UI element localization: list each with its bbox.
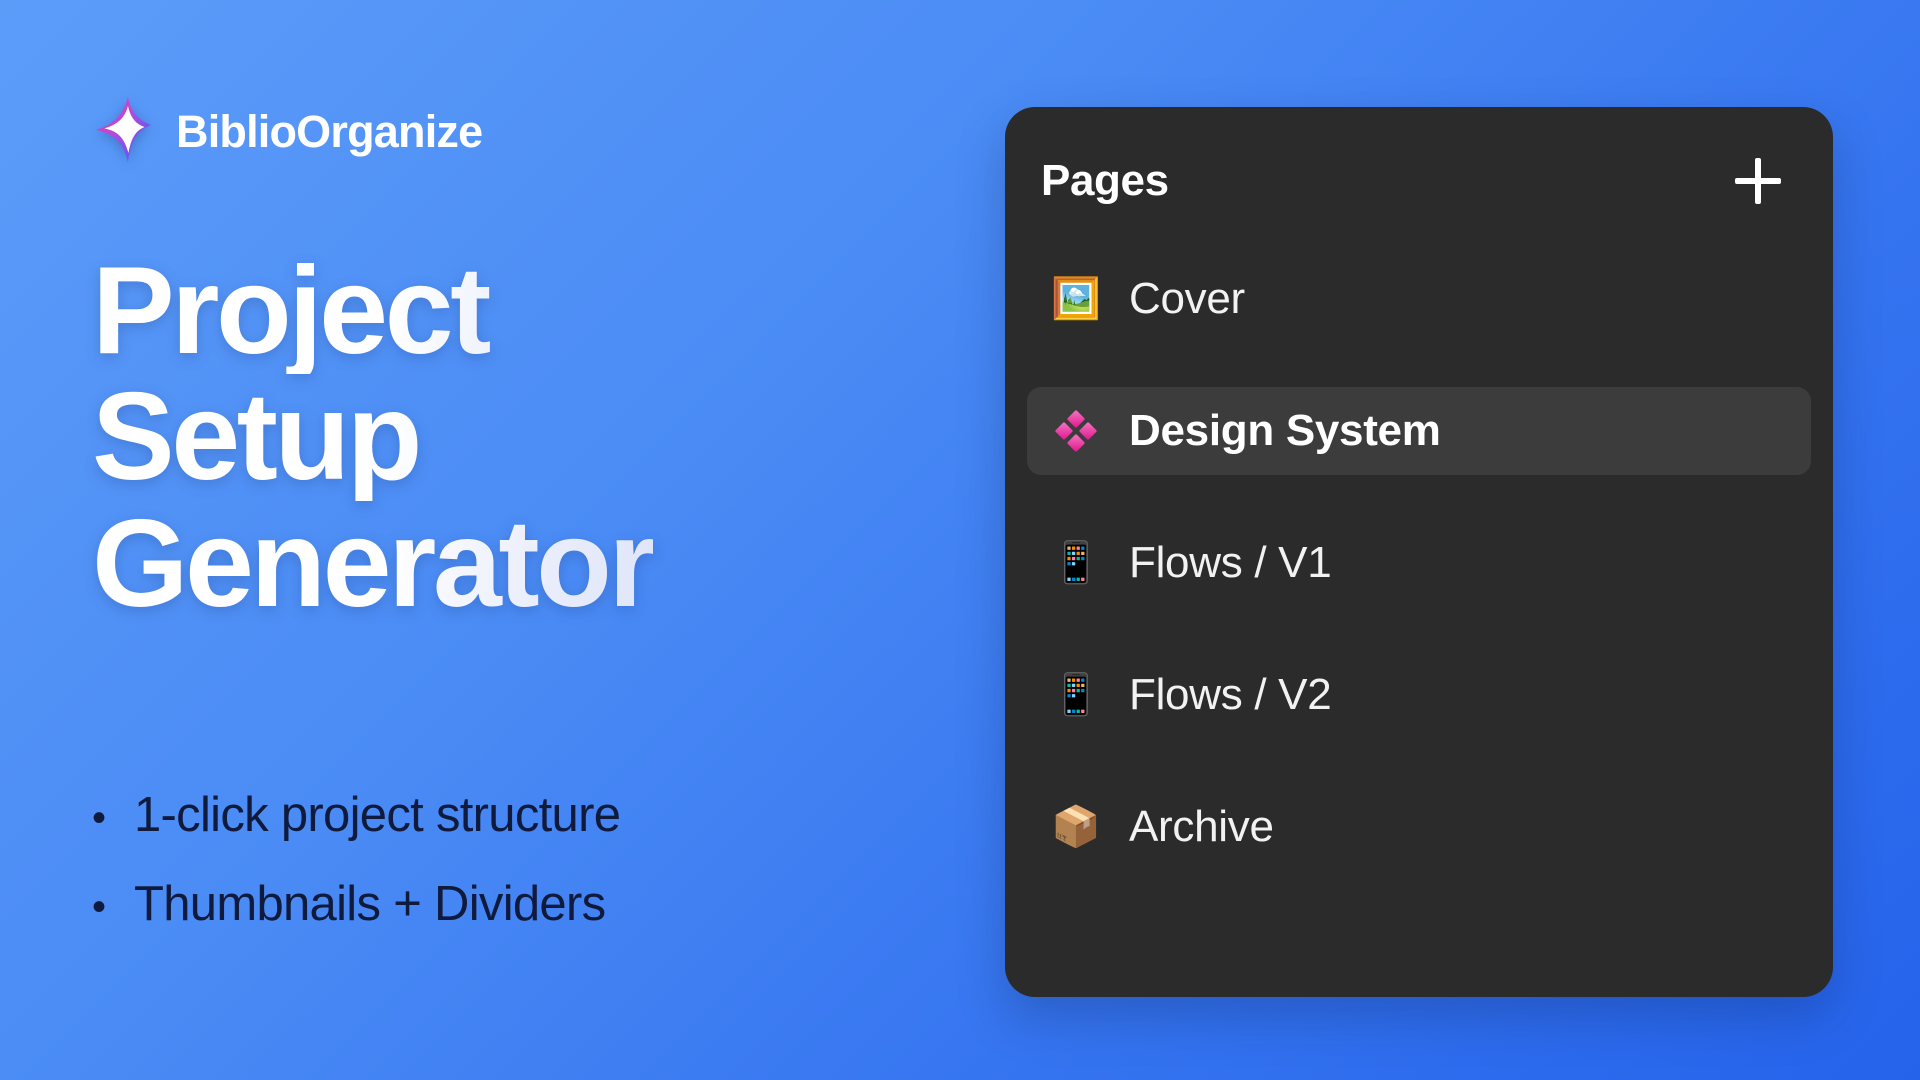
pages-panel: Pages 🖼️ Cover [1005, 107, 1833, 997]
mobile-phone-icon: 📱 [1053, 675, 1099, 715]
page-list-item-cover[interactable]: 🖼️ Cover [1027, 255, 1811, 343]
page-item-label: Cover [1129, 277, 1245, 321]
headline-line-3: Generator [92, 501, 653, 627]
page-list-item-flows-v1[interactable]: 📱 Flows / V1 [1027, 519, 1811, 607]
page-item-label: Flows / V1 [1129, 541, 1331, 585]
pages-panel-header: Pages [1005, 107, 1833, 255]
feature-bullet-list: • 1-click project structure • Thumbnails… [92, 790, 620, 969]
plus-icon[interactable] [1729, 152, 1787, 210]
pages-list: 🖼️ Cover Design System [1005, 255, 1833, 915]
framed-picture-icon: 🖼️ [1053, 279, 1099, 319]
bullet-label: 1-click project structure [134, 790, 620, 841]
page-list-item-archive[interactable]: 📦 Archive [1027, 783, 1811, 871]
hero-left-column: BiblioOrganize Project Setup Generator •… [92, 0, 972, 1080]
page-item-label: Design System [1129, 409, 1441, 453]
page-item-label: Archive [1129, 805, 1274, 849]
headline-line-1: Project [92, 248, 653, 374]
sparkle-star-icon [92, 96, 154, 166]
panel-title: Pages [1041, 159, 1169, 203]
page-list-item-design-system[interactable]: Design System [1027, 387, 1811, 475]
bullet-marker-icon: • [92, 887, 112, 927]
brand-name: BiblioOrganize [176, 109, 482, 154]
list-item: • 1-click project structure [92, 790, 620, 841]
brand-lockup: BiblioOrganize [92, 96, 482, 166]
mobile-phone-icon: 📱 [1053, 543, 1099, 583]
page-title: Project Setup Generator [92, 248, 653, 627]
bullet-label: Thumbnails + Dividers [134, 879, 605, 930]
list-item: • Thumbnails + Dividers [92, 879, 620, 930]
page-item-label: Flows / V2 [1129, 673, 1331, 717]
pink-diamonds-icon [1053, 410, 1099, 452]
page-list-item-flows-v2[interactable]: 📱 Flows / V2 [1027, 651, 1811, 739]
headline-line-2: Setup [92, 374, 653, 500]
bullet-marker-icon: • [92, 798, 112, 838]
package-box-icon: 📦 [1053, 807, 1099, 847]
